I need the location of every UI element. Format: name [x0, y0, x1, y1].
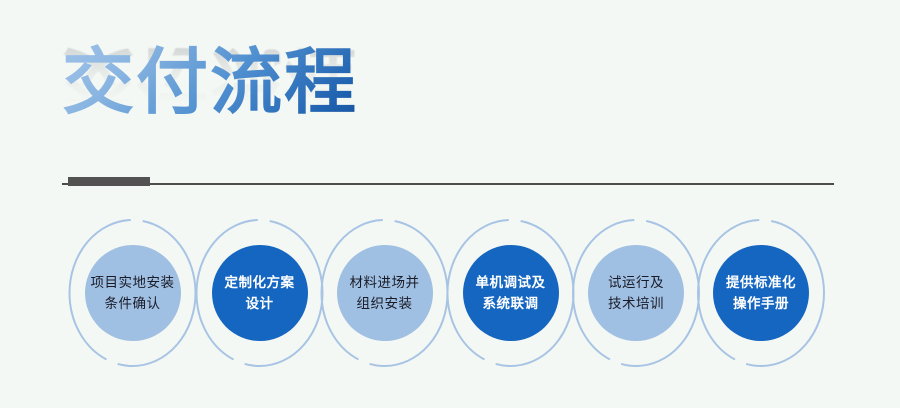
slide-canvas: 交付流程 交付流程 项目实地安装 条件确认 定制化方案 设计 — [0, 0, 900, 408]
flow-step-5-line2: 技术培训 — [608, 293, 664, 314]
divider-accent-block — [68, 177, 150, 186]
flow-step-3-line2: 组织安装 — [357, 293, 413, 314]
flow-step-1[interactable]: 项目实地安装 条件确认 — [85, 245, 181, 341]
flow-step-3[interactable]: 材料进场并 组织安装 — [337, 245, 433, 341]
delivery-process-flow: 项目实地安装 条件确认 定制化方案 设计 材料进场并 组织安装 单机调试及 系统… — [0, 214, 900, 379]
flow-step-5[interactable]: 试运行及 技术培训 — [588, 245, 684, 341]
flow-step-5-line1: 试运行及 — [608, 272, 664, 293]
flow-step-4[interactable]: 单机调试及 系统联调 — [463, 245, 559, 341]
flow-step-6[interactable]: 提供标准化 操作手册 — [713, 245, 809, 341]
flow-step-2-line2: 设计 — [246, 293, 274, 314]
flow-step-6-line1: 提供标准化 — [726, 272, 796, 293]
title-divider — [62, 176, 834, 188]
page-title: 交付流程 — [62, 44, 358, 122]
flow-step-6-line2: 操作手册 — [733, 293, 789, 314]
flow-step-1-line1: 项目实地安装 — [91, 272, 175, 293]
flow-step-1-line2: 条件确认 — [105, 293, 161, 314]
flow-step-2-line1: 定制化方案 — [225, 272, 295, 293]
flow-step-2[interactable]: 定制化方案 设计 — [212, 245, 308, 341]
flow-step-4-line1: 单机调试及 — [476, 272, 546, 293]
page-title-block: 交付流程 交付流程 — [62, 44, 482, 164]
divider-line — [62, 183, 834, 185]
flow-step-4-line2: 系统联调 — [483, 293, 539, 314]
flow-step-3-line1: 材料进场并 — [350, 272, 420, 293]
